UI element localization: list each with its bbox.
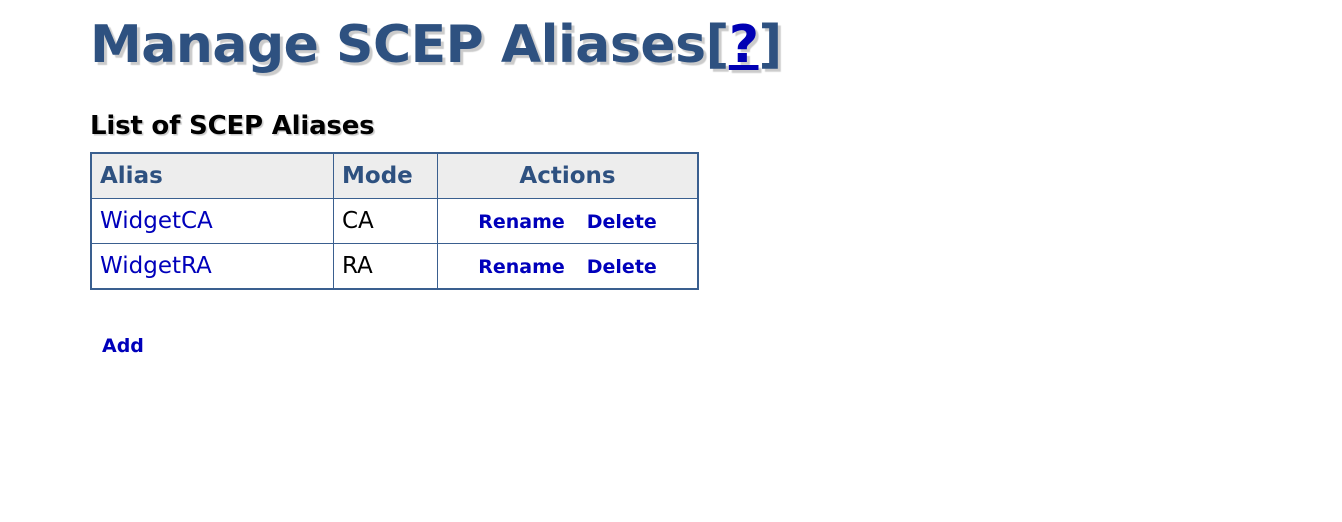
column-header-alias: Alias [91,153,334,199]
section-heading: List of SCEP Aliases [90,111,374,141]
cell-actions: RenameDelete [438,244,699,290]
cell-mode: RA [334,244,438,290]
add-link-container: Add [102,335,144,357]
page-title-text: Manage SCEP Aliases [90,15,706,75]
rename-link[interactable]: Rename [478,256,565,278]
add-alias-link[interactable]: Add [102,335,144,357]
cell-mode: CA [334,199,438,244]
table-header-row: Alias Mode Actions [91,153,698,199]
column-header-actions: Actions [438,153,699,199]
table-body: WidgetCA CA RenameDelete WidgetRA RA Ren… [91,199,698,290]
help-close-bracket: ] [758,15,781,75]
page-title: Manage SCEP Aliases[?] [90,18,782,73]
scep-alias-table: Alias Mode Actions WidgetCA CA RenameDel… [90,152,699,290]
help-link[interactable]: ? [729,15,759,75]
table-row: WidgetCA CA RenameDelete [91,199,698,244]
help-open-bracket: [ [706,15,729,75]
column-header-mode: Mode [334,153,438,199]
table-header: Alias Mode Actions [91,153,698,199]
alias-link[interactable]: WidgetRA [100,253,212,279]
cell-alias: WidgetCA [91,199,334,244]
page-body: { "page": { "title": "Manage SCEP Aliase… [0,0,1342,522]
delete-link[interactable]: Delete [587,256,657,278]
alias-link[interactable]: WidgetCA [100,208,213,234]
delete-link[interactable]: Delete [587,211,657,233]
cell-actions: RenameDelete [438,199,699,244]
cell-alias: WidgetRA [91,244,334,290]
rename-link[interactable]: Rename [478,211,565,233]
table-row: WidgetRA RA RenameDelete [91,244,698,290]
